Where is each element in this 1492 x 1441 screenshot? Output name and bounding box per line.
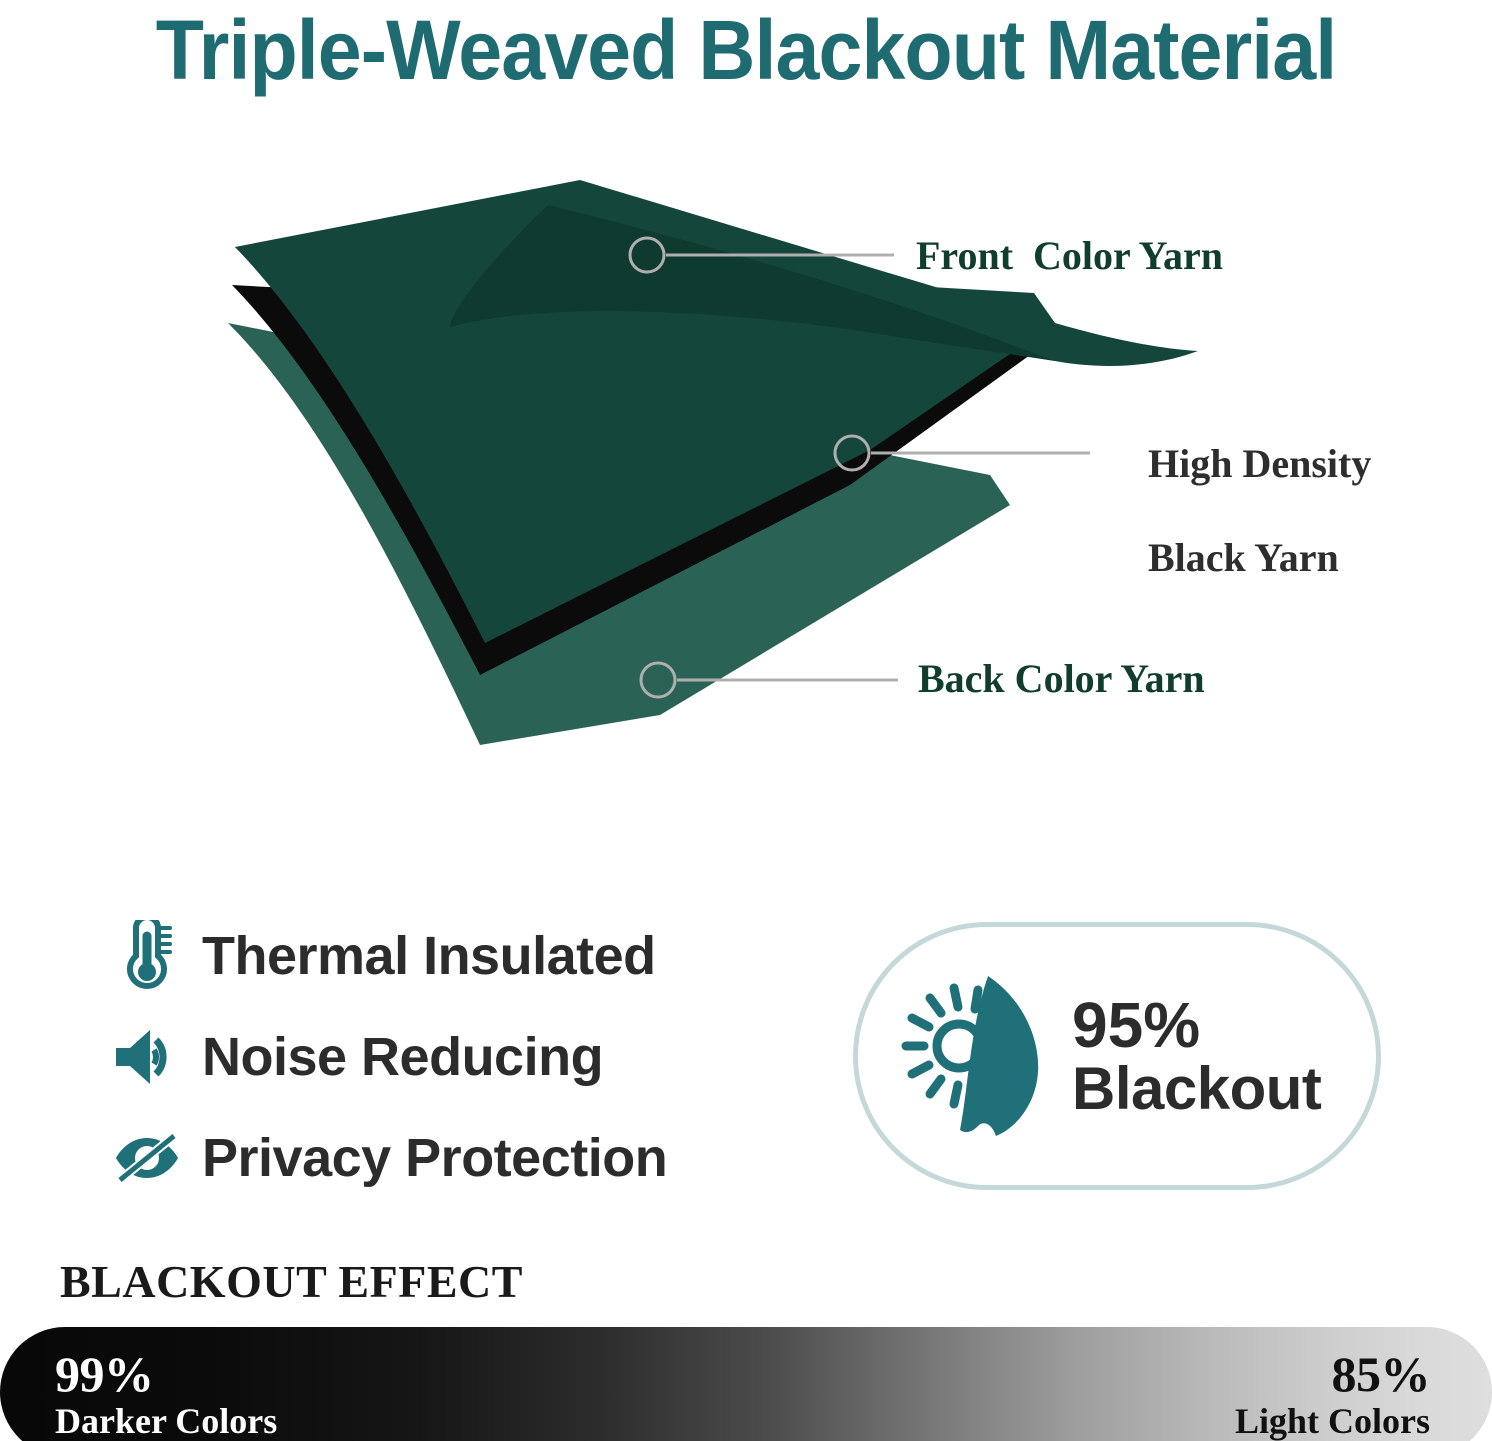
blackout-effect-title: BLACKOUT EFFECT: [60, 1255, 523, 1308]
label-line-2: Black Yarn: [1148, 535, 1339, 580]
blackout-percentage-badge: 95% Blackout: [853, 922, 1381, 1190]
blackout-effect-gradient-bar: 99% Darker Colors 85% Light Colors: [0, 1327, 1492, 1441]
light-colors-percent: 85%: [1235, 1349, 1430, 1399]
feature-label: Privacy Protection: [202, 1127, 667, 1189]
badge-word: Blackout: [1072, 1058, 1321, 1119]
light-colors-caption: Light Colors: [1235, 1403, 1430, 1439]
page-title: Triple-Weaved Blackout Material: [45, 2, 1447, 98]
feature-thermal-insulated: Thermal Insulated: [112, 905, 812, 1006]
infographic-page: Triple-Weaved Blackout Material: [0, 0, 1492, 1441]
feature-list: Thermal Insulated Noise Reducing: [112, 905, 812, 1208]
badge-percent: 95%: [1072, 993, 1321, 1058]
eye-slash-icon: [112, 1130, 190, 1186]
speaker-sound-icon: [112, 1026, 190, 1088]
darker-colors-caption: Darker Colors: [55, 1403, 277, 1439]
label-line-1: High Density: [1148, 441, 1371, 486]
sun-blocked-by-shade-icon: [896, 970, 1046, 1142]
label-front-color-yarn: Front Color Yarn: [916, 232, 1223, 279]
badge-text: 95% Blackout: [1072, 993, 1321, 1119]
gradient-bar-right-stat: 85% Light Colors: [1235, 1349, 1430, 1439]
feature-label: Thermal Insulated: [202, 925, 656, 987]
label-high-density-black-yarn: High Density Black Yarn: [1108, 393, 1371, 628]
gradient-bar-left-stat: 99% Darker Colors: [55, 1349, 277, 1439]
feature-label: Noise Reducing: [202, 1026, 603, 1088]
label-back-color-yarn: Back Color Yarn: [918, 655, 1205, 702]
feature-privacy-protection: Privacy Protection: [112, 1107, 812, 1208]
thermometer-icon: [112, 920, 190, 992]
feature-noise-reducing: Noise Reducing: [112, 1006, 812, 1107]
darker-colors-percent: 99%: [55, 1349, 277, 1399]
